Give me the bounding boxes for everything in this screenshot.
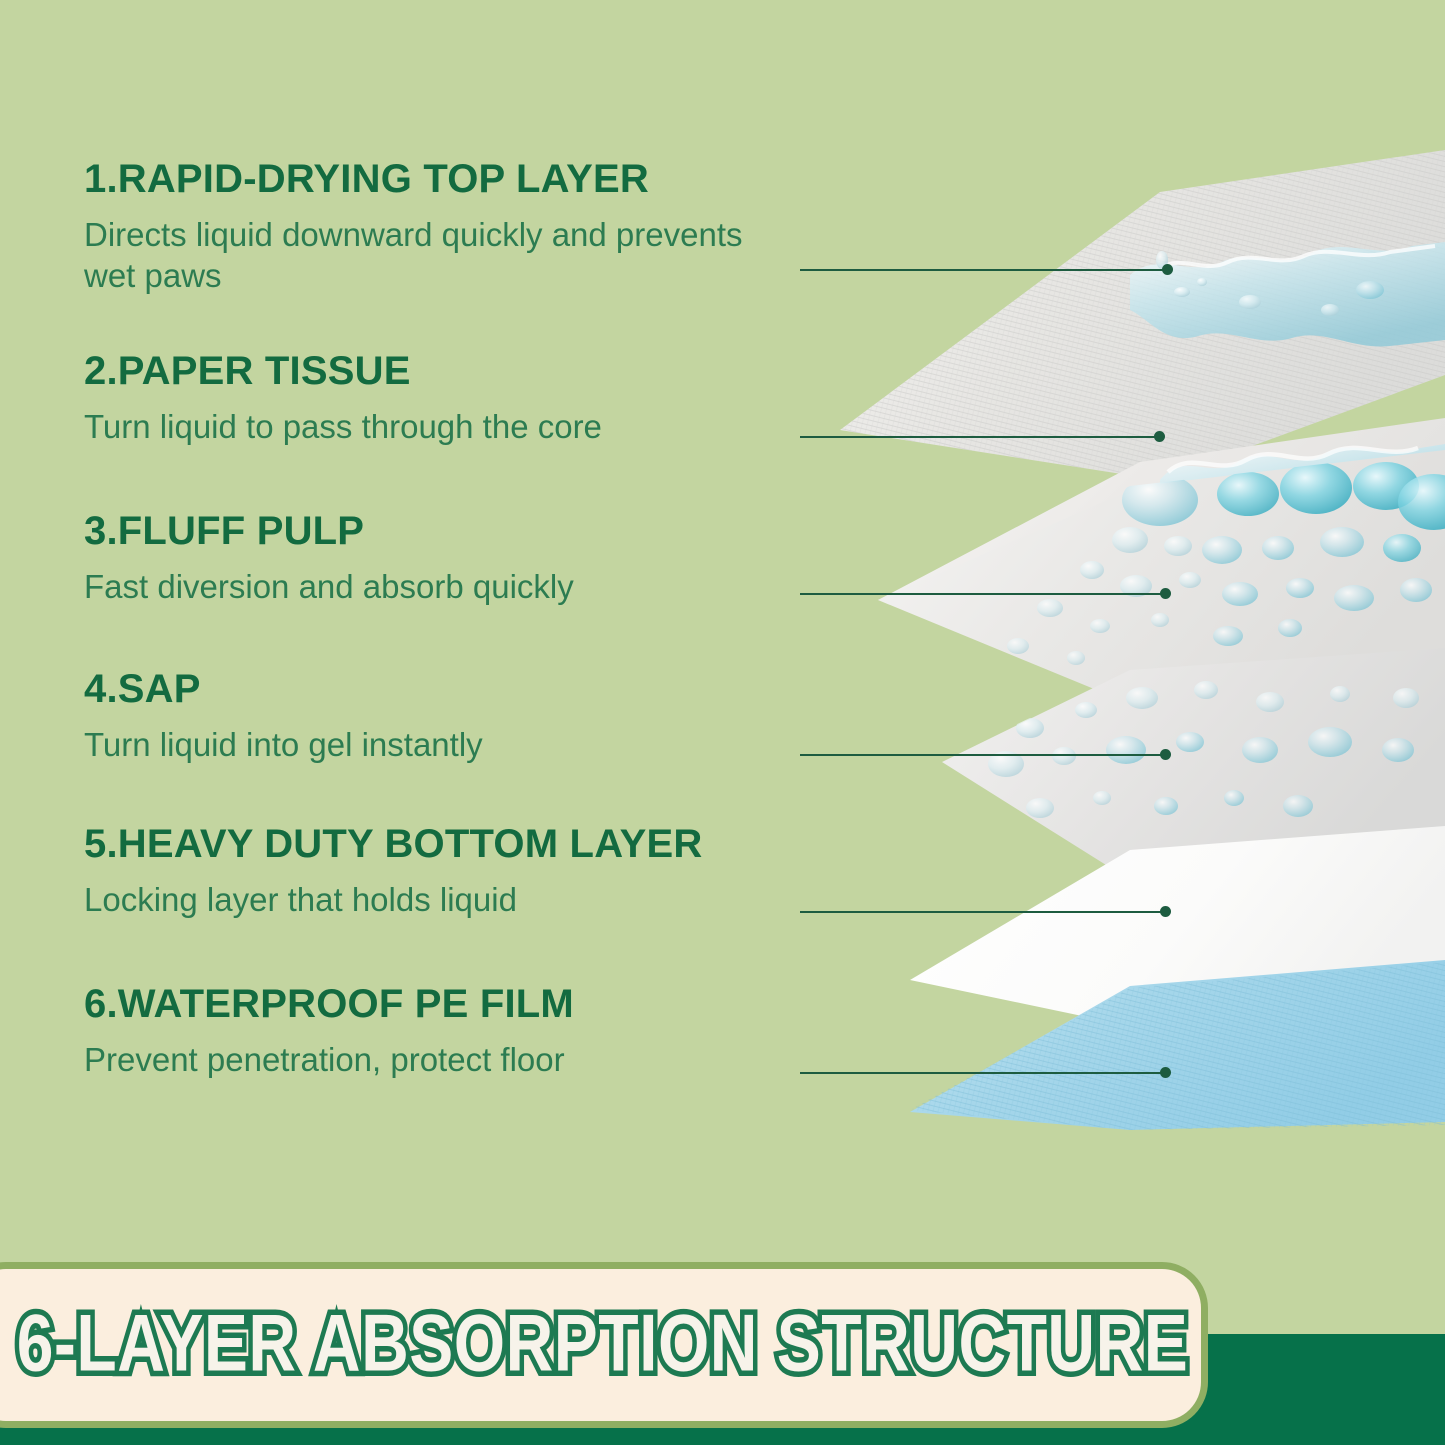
- layer-block-5: 5.HEAVY DUTY BOTTOM LAYER Locking layer …: [84, 823, 702, 920]
- leader-dot-4: [1160, 749, 1171, 760]
- layer-description-1: Directs liquid downward quickly and prev…: [84, 214, 774, 297]
- leader-line-4: [800, 754, 1166, 756]
- layer-description-6: Prevent penetration, protect floor: [84, 1039, 574, 1080]
- layer-title-5: 5.HEAVY DUTY BOTTOM LAYER: [84, 823, 702, 865]
- leader-line-6: [800, 1072, 1166, 1074]
- layer-block-3: 3.FLUFF PULP Fast diversion and absorb q…: [84, 510, 574, 607]
- leader-dot-3: [1160, 588, 1171, 599]
- layer-title-1: 1.RAPID-DRYING TOP LAYER: [84, 158, 774, 200]
- layer-block-6: 6.WATERPROOF PE FILM Prevent penetration…: [84, 983, 574, 1080]
- layer-description-5: Locking layer that holds liquid: [84, 879, 702, 920]
- layer-description-3: Fast diversion and absorb quickly: [84, 566, 574, 607]
- layer-description-4: Turn liquid into gel instantly: [84, 724, 483, 765]
- leader-line-3: [800, 593, 1166, 595]
- layer-title-2: 2.PAPER TISSUE: [84, 350, 602, 392]
- layer-block-4: 4.SAP Turn liquid into gel instantly: [84, 668, 483, 765]
- leader-line-1: [800, 269, 1168, 271]
- layer-title-3: 3.FLUFF PULP: [84, 510, 574, 552]
- leader-dot-5: [1160, 906, 1171, 917]
- leader-dot-2: [1154, 431, 1165, 442]
- leader-dot-6: [1160, 1067, 1171, 1078]
- layer-title-4: 4.SAP: [84, 668, 483, 710]
- layer-block-2: 2.PAPER TISSUE Turn liquid to pass throu…: [84, 350, 602, 447]
- infographic-page: 1.RAPID-DRYING TOP LAYER Directs liquid …: [0, 0, 1445, 1445]
- layer-description-2: Turn liquid to pass through the core: [84, 406, 602, 447]
- layer-title-6: 6.WATERPROOF PE FILM: [84, 983, 574, 1025]
- banner-title: 6-LAYER ABSORPTION STRUCTURE: [0, 1296, 1205, 1389]
- leader-line-5: [800, 911, 1166, 913]
- leader-line-2: [800, 436, 1160, 438]
- layer-block-1: 1.RAPID-DRYING TOP LAYER Directs liquid …: [84, 158, 774, 297]
- layer-stack-illustration: [830, 150, 1445, 1130]
- leader-dot-1: [1162, 264, 1173, 275]
